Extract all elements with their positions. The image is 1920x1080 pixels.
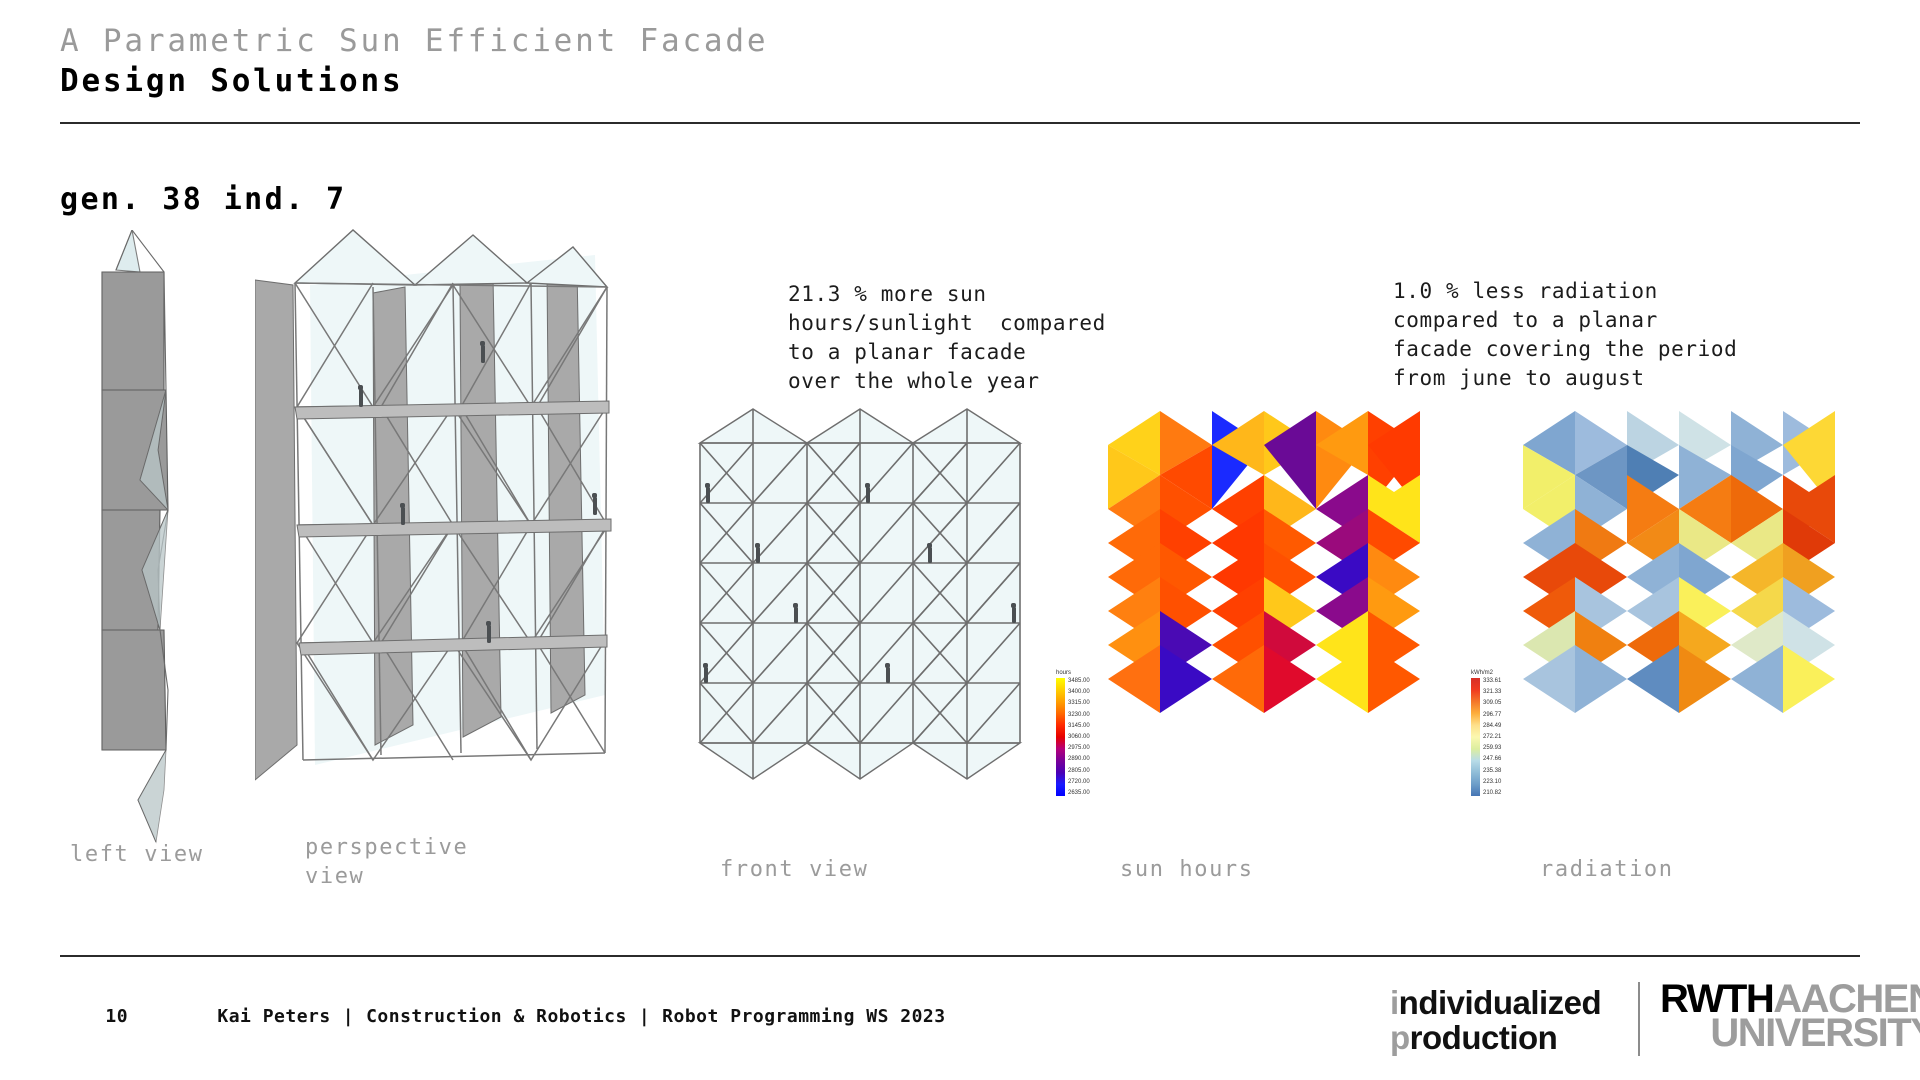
legend-tick: 3485.00 [1068, 678, 1090, 684]
logo-rwth-university: UNIVERSITY [1710, 1011, 1920, 1055]
legend-tick: 3315.00 [1068, 700, 1090, 706]
legend-tick: 2805.00 [1068, 768, 1090, 774]
footer-divider [60, 955, 1860, 957]
legend-tick: 3060.00 [1068, 734, 1090, 740]
perspective-view-drawing [255, 225, 655, 845]
sun-hours-heatmap [1100, 405, 1450, 785]
caption-perspective-view: perspective view [305, 833, 565, 891]
radiation-legend: kWh/m2 333.61321.33309.05296.77284.49272… [1471, 670, 1501, 796]
footer-separator-1: | [331, 1006, 366, 1027]
legend-tick: 2720.00 [1068, 779, 1090, 785]
figure-left-view: left view [80, 230, 220, 854]
footer-text: 10Kai Peters|Construction & Robotics|Rob… [60, 985, 946, 1048]
legend-tick: 2975.00 [1068, 745, 1090, 751]
footer-department: Construction & Robotics [366, 1006, 627, 1027]
sun-hours-legend-ticks: 3485.003400.003315.003230.003145.003060.… [1068, 678, 1090, 796]
logo-ip-line2-rest: roduction [1410, 1019, 1558, 1056]
legend-tick: 333.61 [1483, 678, 1501, 684]
caption-sun-hours: sun hours [1120, 855, 1380, 884]
generation-individual-label: gen. 38 ind. 7 [60, 182, 346, 217]
logo-ip-line1-lead: i [1390, 984, 1399, 1021]
page-title-subtitle: A Parametric Sun Efficient Facade [60, 22, 1860, 62]
legend-tick: 259.93 [1483, 745, 1501, 751]
legend-tick: 247.66 [1483, 756, 1501, 762]
footer-separator-2: | [627, 1006, 662, 1027]
logo-rwth-line2-wrap: UNIVERSITY [1660, 1016, 1920, 1050]
logo-ip-line1: individualized [1390, 985, 1601, 1020]
legend-tick: 235.38 [1483, 768, 1501, 774]
sun-hours-legend-title: hours [1056, 670, 1090, 676]
legend-tick: 210.82 [1483, 790, 1501, 796]
legend-tick: 272.21 [1483, 734, 1501, 740]
footer-author: Kai Peters [217, 1006, 330, 1027]
footer-course: Robot Programming WS 2023 [662, 1006, 945, 1027]
figure-perspective-view: perspective view [255, 225, 655, 849]
sun-hours-colorbar [1056, 678, 1065, 796]
slide-header: A Parametric Sun Efficient Facade Design… [60, 22, 1860, 101]
sun-hours-legend: hours 3485.003400.003315.003230.003145.0… [1056, 670, 1090, 796]
logo-ip-line2-lead: p [1390, 1019, 1410, 1056]
logo-separator [1638, 982, 1640, 1056]
legend-tick: 2635.00 [1068, 790, 1090, 796]
figure-sun-hours: hours 3485.003400.003315.003230.003145.0… [1100, 405, 1450, 789]
figure-row: left view [0, 250, 1920, 870]
radiation-heatmap [1515, 405, 1865, 785]
legend-tick: 3145.00 [1068, 723, 1090, 729]
legend-tick: 296.77 [1483, 712, 1501, 718]
radiation-legend-title: kWh/m2 [1471, 670, 1501, 676]
caption-front-view: front view [720, 855, 980, 884]
legend-tick: 223.10 [1483, 779, 1501, 785]
legend-tick: 284.49 [1483, 723, 1501, 729]
figure-radiation: kWh/m2 333.61321.33309.05296.77284.49272… [1515, 405, 1865, 789]
page-title: Design Solutions [60, 62, 1860, 102]
slide-root: A Parametric Sun Efficient Facade Design… [0, 0, 1920, 1080]
radiation-legend-ticks: 333.61321.33309.05296.77284.49272.21259.… [1483, 678, 1501, 796]
legend-tick: 321.33 [1483, 689, 1501, 695]
left-view-drawing [80, 230, 220, 850]
page-number: 10 [105, 1006, 217, 1027]
legend-tick: 2890.00 [1068, 756, 1090, 762]
legend-tick: 3230.00 [1068, 712, 1090, 718]
radiation-colorbar [1471, 678, 1480, 796]
header-divider [60, 122, 1860, 124]
logo-rwth-aachen-university: RWTHAACHEN UNIVERSITY [1660, 982, 1920, 1051]
front-view-drawing [690, 405, 1030, 785]
figure-front-view: front view [690, 405, 1030, 789]
caption-radiation: radiation [1540, 855, 1800, 884]
legend-tick: 3400.00 [1068, 689, 1090, 695]
logo-ip-line2: production [1390, 1020, 1601, 1055]
logo-individualized-production: individualized production [1390, 985, 1601, 1055]
logo-ip-line1-rest: ndividualized [1399, 984, 1602, 1021]
legend-tick: 309.05 [1483, 700, 1501, 706]
